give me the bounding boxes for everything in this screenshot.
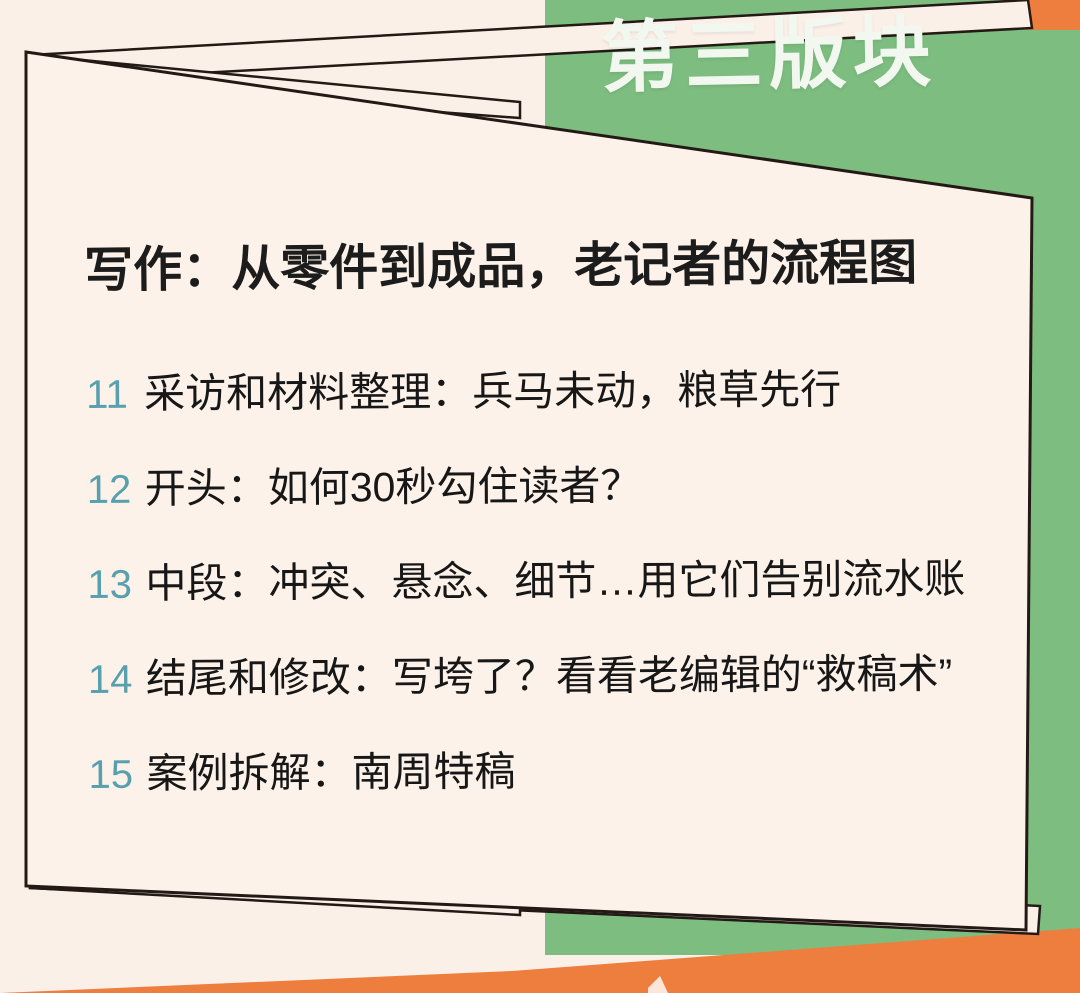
list-item-number: 15: [88, 753, 140, 798]
list-item[interactable]: 11 采访和材料整理：兵马未动，粮草先行: [86, 354, 1047, 455]
list-item-number: 14: [88, 658, 140, 703]
list-item-label: 中段：冲突、悬念、细节…用它们告别流水账: [145, 545, 965, 610]
poster-stage: 第三版块 写作：从零件到成品，老记者的流程图 11 采访和材料整理：兵马未动，粮…: [0, 0, 1080, 993]
list-item-label: 采访和材料整理：兵马未动，粮草先行: [144, 355, 841, 419]
list-item-label: 开头：如何30秒勾住读者？: [145, 452, 642, 515]
list-item[interactable]: 14 结尾和修改：写垮了？看看老编辑的“救稿术”: [88, 639, 1049, 740]
section-banner-label: 第三版块: [600, 9, 1061, 100]
list-item-label: 案例拆解：南周特稿: [146, 737, 515, 799]
table-of-contents: 11 采访和材料整理：兵马未动，粮草先行 12 开头：如何30秒勾住读者？ 13…: [86, 354, 1049, 835]
page-title: 写作：从零件到成品，老记者的流程图: [84, 234, 1024, 299]
list-item[interactable]: 12 开头：如何30秒勾住读者？: [87, 449, 1048, 550]
list-item-number: 12: [87, 468, 139, 513]
list-item-number: 13: [87, 563, 139, 608]
list-item[interactable]: 15 案例拆解：南周特稿: [88, 734, 1049, 835]
list-item-label: 结尾和修改：写垮了？看看老编辑的“救稿术”: [146, 640, 953, 705]
list-item-number: 11: [86, 373, 138, 418]
list-item[interactable]: 13 中段：冲突、悬念、细节…用它们告别流水账: [87, 544, 1048, 645]
